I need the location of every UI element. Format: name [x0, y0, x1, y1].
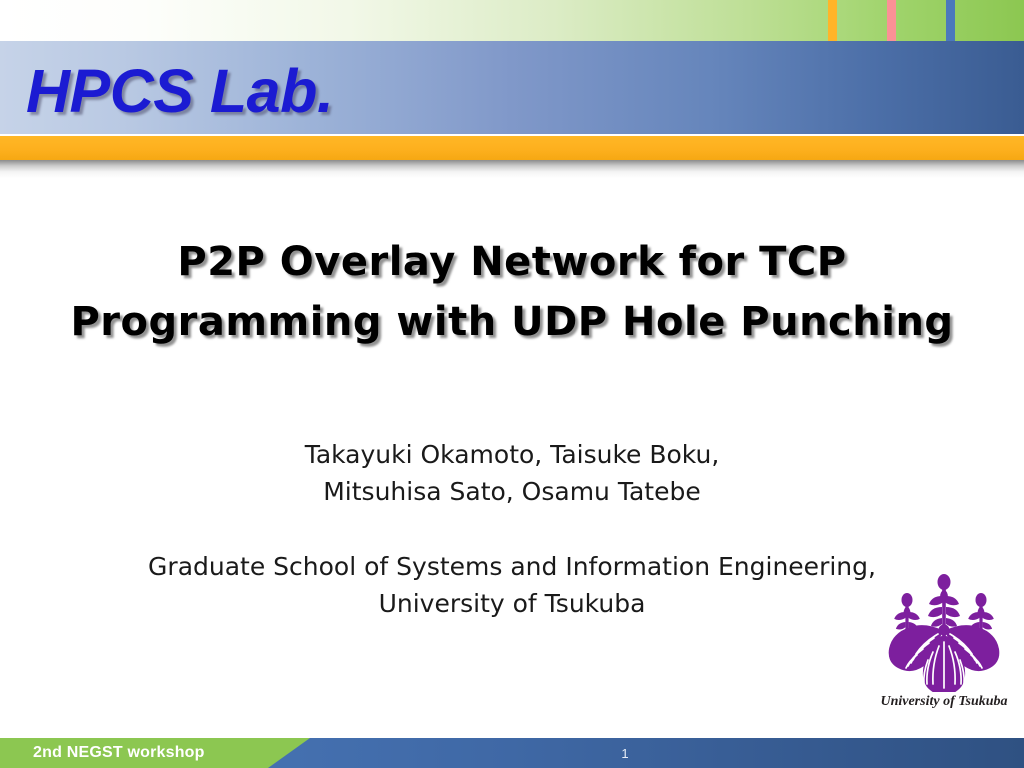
- slide-footer: 2nd NEGST workshop 1: [0, 738, 1024, 768]
- orange-divider-bar: [0, 136, 1024, 160]
- orange-divider-shadow: [0, 160, 1024, 178]
- title-line-1: P2P Overlay Network for TCP: [62, 232, 962, 292]
- author-line-1: Takayuki Okamoto, Taisuke Boku,: [62, 436, 962, 473]
- author-line-2: Mitsuhisa Sato, Osamu Tatebe: [62, 473, 962, 510]
- affiliation-block: Graduate School of Systems and Informati…: [62, 548, 962, 622]
- university-logo: University of Tsukuba: [876, 572, 1012, 722]
- title-line-2: Programming with UDP Hole Punching: [62, 292, 962, 352]
- paulownia-crest-icon: [882, 572, 1006, 692]
- presentation-slide: HPCS Lab. P2P Overlay Network for TCP Pr…: [0, 0, 1024, 768]
- top-gradient-strip: [0, 0, 1024, 41]
- accent-bar-blue: [946, 0, 955, 41]
- affiliation-line-2: University of Tsukuba: [62, 585, 962, 622]
- lab-logo-text: HPCS Lab.: [26, 56, 333, 126]
- author-list: Takayuki Okamoto, Taisuke Boku, Mitsuhis…: [62, 436, 962, 510]
- footer-workshop-label: 2nd NEGST workshop: [33, 744, 205, 762]
- accent-bar-orange: [828, 0, 837, 41]
- affiliation-line-1: Graduate School of Systems and Informati…: [62, 548, 962, 585]
- accent-bar-pink: [887, 0, 896, 41]
- slide-title: P2P Overlay Network for TCP Programming …: [62, 232, 962, 352]
- footer-page-number: 1: [610, 746, 640, 761]
- university-logo-caption: University of Tsukuba: [876, 694, 1012, 710]
